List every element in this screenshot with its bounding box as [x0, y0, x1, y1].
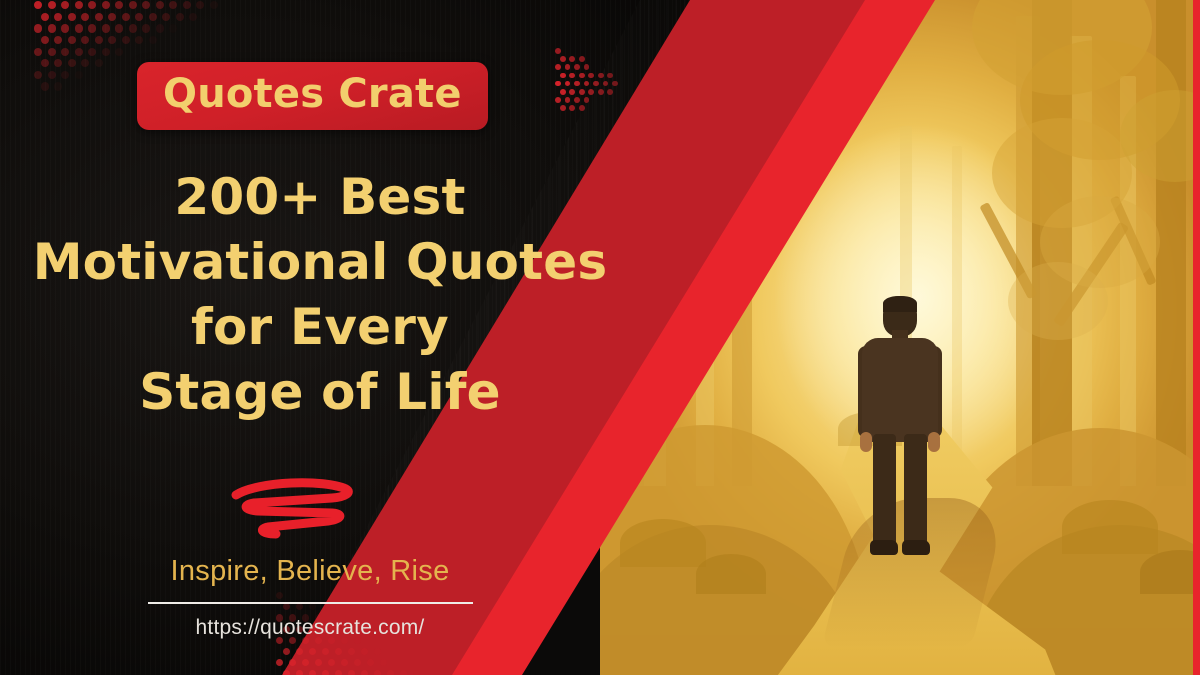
red-brush-squiggle-icon	[228, 477, 358, 539]
red-right-edge-strip	[1193, 0, 1200, 675]
brand-badge[interactable]: Quotes Crate	[137, 62, 488, 130]
title-line-3: for Every	[0, 295, 640, 360]
brand-badge-label: Quotes Crate	[163, 74, 462, 114]
title-line-4: Stage of Life	[0, 360, 640, 425]
page-title: 200+ Best Motivational Quotes for Every …	[0, 165, 640, 425]
text-content-layer: Quotes Crate 200+ Best Motivational Quot…	[0, 0, 700, 675]
walking-person-figure	[857, 296, 943, 564]
quote-blog-banner: Quotes Crate 200+ Best Motivational Quot…	[0, 0, 1200, 675]
title-line-1: 200+ Best	[0, 165, 640, 230]
title-line-2: Motivational Quotes	[0, 230, 640, 295]
website-url[interactable]: https://quotescrate.com/	[0, 616, 620, 640]
tagline-text: Inspire, Believe, Rise	[0, 555, 620, 588]
divider-line	[148, 602, 473, 604]
